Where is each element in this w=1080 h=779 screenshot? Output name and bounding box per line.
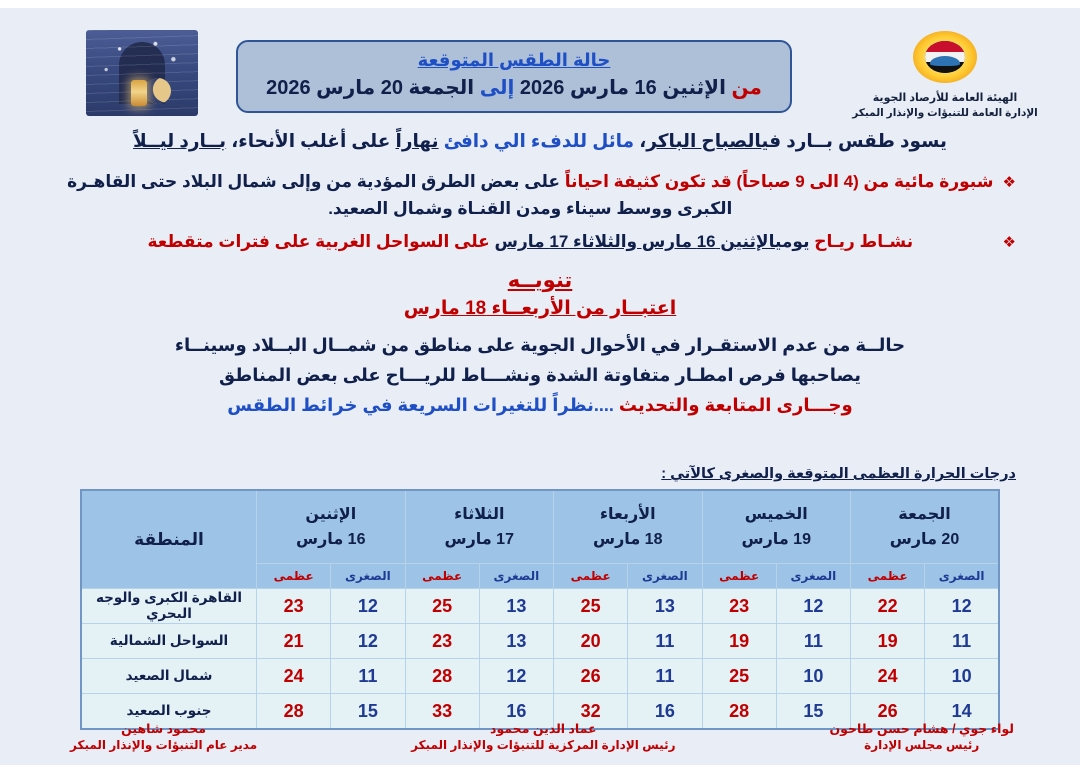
table-row: 10241025112612281124شمال الصعيد <box>81 659 999 694</box>
min-temp-cell: 10 <box>925 659 999 694</box>
notice-heading: تنويــه <box>64 268 1016 293</box>
top-white-band <box>0 0 1080 8</box>
min-temp-cell: 12 <box>331 624 405 659</box>
max-temp-cell: 20 <box>554 624 628 659</box>
sub-header-min-1: الصغرى <box>776 564 850 589</box>
fog-warning-text: شبورة مائية من (4 الى 9 صباحاً) قد تكون … <box>64 168 997 222</box>
notice-line-1: حالــة من عدم الاستقـرار في الأحوال الجو… <box>64 330 1016 360</box>
max-temp-cell: 19 <box>851 624 925 659</box>
ramadan-lantern-crescent-icon <box>86 30 198 116</box>
page-title: حالة الطقس المتوقعة <box>238 47 790 73</box>
max-temp-cell: 24 <box>851 659 925 694</box>
signature-central-head: عماد الدين محمود رئيس الإدارة المركزية ل… <box>411 721 675 753</box>
weather-forecast-page: حالة الطقس المتوقعة من الإثنين 16 مارس 2… <box>0 0 1080 779</box>
notice-line-3: وجـــارى المتابعة والتحديث ....نظراً للت… <box>64 390 1016 420</box>
organization-name: الهيئة العامة للأرصاد الجوية <box>838 90 1052 106</box>
forecast-body: يسود طقس بــارد فيالصباح الباكر، مائل لل… <box>64 126 1016 420</box>
region-name-cell: القاهرة الكبرى والوجه البحري <box>81 589 257 624</box>
wind-warning-text: نشـاط ريـاح يوميالإثنين 16 مارس والثلاثا… <box>64 228 997 255</box>
notice-subheading: اعتبــار من الأربعــاء 18 مارس <box>64 297 1016 320</box>
min-temp-cell: 13 <box>628 589 702 624</box>
min-temp-cell: 12 <box>331 589 405 624</box>
lantern-icon <box>131 80 147 106</box>
wind-warning-days: الإثنين 16 مارس والثلاثاء 17 مارس <box>494 232 774 251</box>
lead-part-3: على أغلب الأنحاء، <box>231 130 390 151</box>
day-name-4: الإثنين <box>258 502 404 527</box>
bullet-item-fog: ❖ شبورة مائية من (4 الى 9 صباحاً) قد تكو… <box>64 168 1016 222</box>
day-name-3: الثلاثاء <box>407 502 553 527</box>
wave-icon <box>930 56 960 66</box>
lead-part-1: يسود طقس <box>838 130 947 151</box>
lead-paragraph: يسود طقس بــارد فيالصباح الباكر، مائل لل… <box>64 126 1016 156</box>
temperature-table-caption: درجات الحرارة العظمى المتوقعة والصغرى كا… <box>661 466 1016 482</box>
day-date-2: 18 مارس <box>555 527 701 552</box>
period-from-label: من <box>731 77 761 99</box>
lead-cold: بــارد <box>786 130 833 151</box>
day-name-2: الأربعاء <box>555 502 701 527</box>
sub-header-max-0: عظمى <box>851 564 925 589</box>
sub-header-min-2: الصغرى <box>628 564 702 589</box>
flag-red-stripe <box>925 41 965 52</box>
sub-header-min-4: الصغرى <box>331 564 405 589</box>
period-end: الجمعة 20 مارس 2026 <box>266 77 474 99</box>
table-head: الجمعة 20 مارس الخميس 19 مارس الأربعاء 1… <box>81 490 999 589</box>
max-temp-cell: 19 <box>702 624 776 659</box>
sub-header-min-0: الصغرى <box>925 564 999 589</box>
day-header-3: الثلاثاء 17 مارس <box>405 490 554 564</box>
lead-mild: مائل للدفء الي دافئ <box>444 130 634 151</box>
max-temp-cell: 23 <box>257 589 331 624</box>
min-temp-cell: 12 <box>776 589 850 624</box>
egypt-eagle-sun-emblem-icon <box>908 28 982 86</box>
max-temp-cell: 21 <box>257 624 331 659</box>
day-name-0: الجمعة <box>852 502 997 527</box>
central-head-role: رئيس الإدارة المركزية للتنبؤات والإنذار … <box>411 737 675 753</box>
central-head-name: عماد الدين محمود <box>411 721 675 737</box>
notice-update-red: وجـــارى المتابعة والتحديث <box>619 395 853 415</box>
bullet-item-wind: ❖ نشـاط ريـاح يوميالإثنين 16 مارس والثلا… <box>64 228 1016 256</box>
day-date-4: 16 مارس <box>258 527 404 552</box>
min-temp-cell: 10 <box>776 659 850 694</box>
sub-header-max-3: عظمى <box>405 564 479 589</box>
region-name-cell: السواحل الشمالية <box>81 624 257 659</box>
max-temp-cell: 22 <box>851 589 925 624</box>
min-temp-cell: 12 <box>479 659 553 694</box>
min-temp-cell: 13 <box>479 589 553 624</box>
day-name-1: الخميس <box>704 502 850 527</box>
max-temp-cell: 23 <box>405 624 479 659</box>
notice-line-2: يصاحبها فرص امطـار متفاوتة الشدة ونشـــا… <box>64 360 1016 390</box>
min-temp-cell: 11 <box>776 624 850 659</box>
bottom-white-band <box>0 765 1080 779</box>
chairman-name: لواء جوي / هشام حسن طاحون <box>829 721 1014 737</box>
min-temp-cell: 12 <box>925 589 999 624</box>
notice-update-blue: ....نظراً للتغيرات السريعة في خرائط الطق… <box>227 395 614 415</box>
title-box: حالة الطقس المتوقعة من الإثنين 16 مارس 2… <box>236 40 792 113</box>
red-diamond-bullet-icon: ❖ <box>1003 228 1016 256</box>
max-temp-cell: 25 <box>702 659 776 694</box>
max-temp-cell: 23 <box>702 589 776 624</box>
fog-warning-red: شبورة مائية من (4 الى 9 صباحاً) قد تكون … <box>565 172 994 191</box>
lead-morning: الصباح الباكر <box>646 130 761 151</box>
day-header-1: الخميس 19 مارس <box>702 490 851 564</box>
table-row: 11191119112013231221السواحل الشمالية <box>81 624 999 659</box>
table-header-days-row: الجمعة 20 مارس الخميس 19 مارس الأربعاء 1… <box>81 490 999 564</box>
min-temp-cell: 11 <box>628 624 702 659</box>
lead-part-2: في <box>761 130 781 151</box>
day-header-2: الأربعاء 18 مارس <box>554 490 703 564</box>
red-diamond-bullet-icon: ❖ <box>1003 168 1016 196</box>
emblem-disc-icon <box>925 41 965 73</box>
sub-header-max-1: عظمى <box>702 564 776 589</box>
sub-header-min-3: الصغرى <box>479 564 553 589</box>
organization-department: الإدارة العامة للتنبؤات والإنذار المبكر <box>838 106 1052 121</box>
forecast-director-role: مدير عام التنبؤات والإنذار المبكر <box>70 737 257 753</box>
sub-header-max-2: عظمى <box>554 564 628 589</box>
day-date-1: 19 مارس <box>704 527 850 552</box>
period-to-label: إلى <box>480 77 515 99</box>
wind-warning-mid: يومي <box>775 232 810 251</box>
table-body: 12221223132513251223القاهرة الكبرى والوج… <box>81 589 999 730</box>
max-temp-cell: 28 <box>405 659 479 694</box>
sub-header-max-4: عظمى <box>257 564 331 589</box>
min-temp-cell: 11 <box>331 659 405 694</box>
chairman-role: رئيس مجلس الإدارة <box>829 737 1014 753</box>
table-row: 12221223132513251223القاهرة الكبرى والوج… <box>81 589 999 624</box>
signature-forecast-director: محمود شاهين مدير عام التنبؤات والإنذار ا… <box>70 721 257 753</box>
organization-block: الهيئة العامة للأرصاد الجوية الإدارة الع… <box>838 28 1052 121</box>
forecast-period: من الإثنين 16 مارس 2026 إلى الجمعة 20 ما… <box>238 73 790 103</box>
signature-chairman: لواء جوي / هشام حسن طاحون رئيس مجلس الإد… <box>829 721 1014 753</box>
max-temp-cell: 26 <box>554 659 628 694</box>
min-temp-cell: 13 <box>479 624 553 659</box>
forecast-director-name: محمود شاهين <box>70 721 257 737</box>
page-footer: لواء جوي / هشام حسن طاحون رئيس مجلس الإد… <box>70 721 1014 753</box>
day-date-0: 20 مارس <box>852 527 997 552</box>
region-column-header: المنطقة <box>81 490 257 589</box>
max-temp-cell: 25 <box>554 589 628 624</box>
day-header-0: الجمعة 20 مارس <box>851 490 1000 564</box>
max-temp-cell: 25 <box>405 589 479 624</box>
region-name-cell: شمال الصعيد <box>81 659 257 694</box>
page-header: حالة الطقس المتوقعة من الإثنين 16 مارس 2… <box>0 14 1080 122</box>
temperature-table-wrapper: الجمعة 20 مارس الخميس 19 مارس الأربعاء 1… <box>80 489 1000 730</box>
day-header-4: الإثنين 16 مارس <box>257 490 406 564</box>
period-start: الإثنين 16 مارس 2026 <box>520 77 726 99</box>
day-date-3: 17 مارس <box>407 527 553 552</box>
wind-warning-rest: على السواحل الغربية على فترات متقطعة <box>147 232 489 251</box>
wind-warning-red: نشـاط ريـاح <box>814 232 913 251</box>
lead-day: نهاراً <box>395 130 438 151</box>
lead-night: بــارد ليــلاً <box>133 130 226 151</box>
min-temp-cell: 11 <box>925 624 999 659</box>
temperature-table: الجمعة 20 مارس الخميس 19 مارس الأربعاء 1… <box>80 489 1000 730</box>
min-temp-cell: 11 <box>628 659 702 694</box>
max-temp-cell: 24 <box>257 659 331 694</box>
